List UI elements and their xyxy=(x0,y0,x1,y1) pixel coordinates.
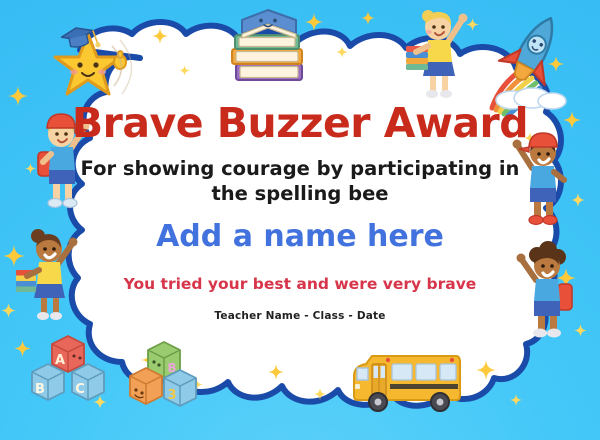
rocket-with-rainbow-icon xyxy=(480,6,584,112)
certificate-canvas: A B C xyxy=(0,0,600,440)
abc-alphabet-blocks-icon: A B C xyxy=(24,330,132,408)
award-subtitle: For showing courage by participating in … xyxy=(78,156,522,206)
stack-of-books-icon xyxy=(222,2,314,88)
award-praise-message: You tried your best and were very brave xyxy=(0,274,600,294)
svg-text:C: C xyxy=(75,382,85,397)
svg-text:3: 3 xyxy=(167,388,176,403)
svg-text:B: B xyxy=(35,382,45,397)
recipient-name-field[interactable]: Add a name here xyxy=(0,219,600,255)
teacher-class-date-line[interactable]: Teacher Name - Class - Date xyxy=(0,309,600,323)
letter-number-blocks-icon: B 3 xyxy=(130,338,204,408)
page-title: Brave Buzzer Award xyxy=(0,100,600,146)
school-bus-icon xyxy=(348,342,466,418)
svg-text:A: A xyxy=(55,353,65,368)
smiling-star-with-graduation-cap-icon xyxy=(34,14,142,110)
girl-holding-books-icon xyxy=(404,2,474,100)
